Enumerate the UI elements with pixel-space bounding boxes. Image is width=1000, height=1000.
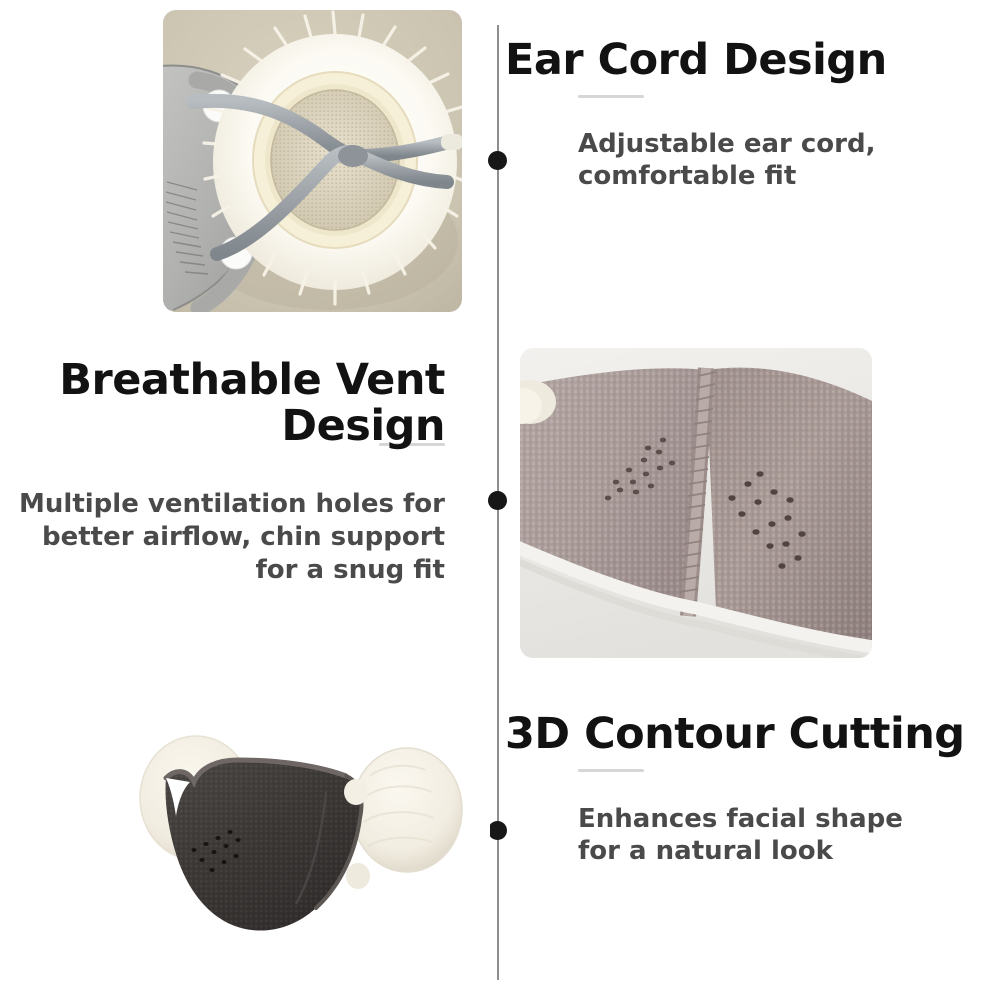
feature-1-divider <box>578 95 644 98</box>
feature-3-heading: 3D Contour Cutting <box>505 712 975 758</box>
feature-3-divider <box>578 769 644 772</box>
feature-1-heading: Ear Cord Design <box>505 38 975 84</box>
feature-block-3: 3D Contour Cutting Enhances facial shape… <box>505 712 975 868</box>
contour-cut-photo <box>120 700 490 955</box>
infographic-canvas: Ear Cord Design Adjustable ear cord, com… <box>0 0 1000 1000</box>
feature-block-2: Breathable Vent Design Multiple ventilat… <box>10 358 445 586</box>
feature-block-1: Ear Cord Design Adjustable ear cord, com… <box>505 38 975 193</box>
feature-1-body: Adjustable ear cord, comfortable fit <box>578 128 908 194</box>
feature-2-body: Multiple ventilation holes for better ai… <box>10 488 445 586</box>
timeline-dot-2 <box>488 491 507 510</box>
feature-3-body: Enhances facial shape for a natural look <box>578 803 938 869</box>
feature-2-heading: Breathable Vent Design <box>10 358 445 449</box>
ear-cord-photo <box>163 10 462 312</box>
vent-holes-photo <box>520 348 872 658</box>
